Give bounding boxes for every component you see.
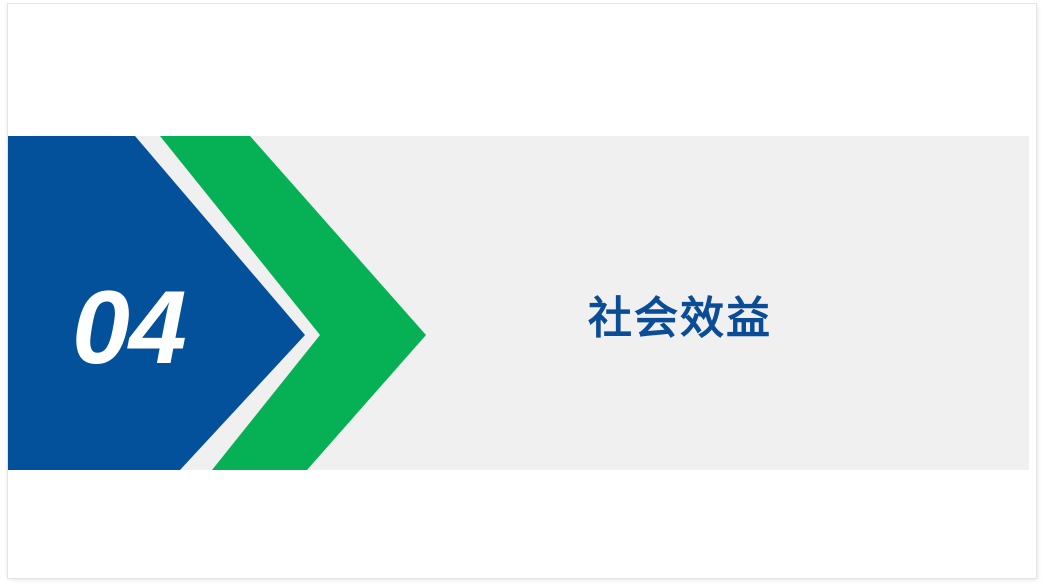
- section-number: 04: [72, 272, 232, 384]
- slide-sheet[interactable]: 04 社会效益: [8, 4, 1036, 578]
- slide-stage: 04 社会效益: [0, 0, 1044, 586]
- section-title: 社会效益: [588, 294, 772, 345]
